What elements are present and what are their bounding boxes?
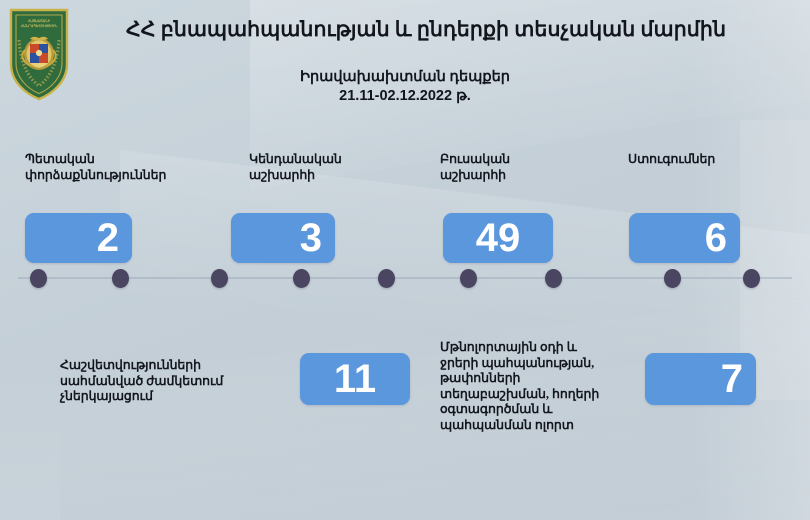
stat-value-fauna: 3 <box>231 218 335 258</box>
divider-dot <box>545 269 562 288</box>
stat-box-flora: 49 <box>443 213 553 263</box>
divider-dot <box>664 269 681 288</box>
dot-divider <box>0 263 810 293</box>
report-period-label: Իրավախախտման դեպքեր <box>0 68 810 87</box>
stat-label-flora: Բուսականաշխարհի <box>440 152 600 183</box>
divider-dot <box>378 269 395 288</box>
stat-box-late-reports: 11 <box>300 353 410 405</box>
stat-value-flora: 49 <box>443 218 553 258</box>
divider-dot <box>112 269 129 288</box>
stat-box-air-water-waste-soil: 7 <box>645 353 756 405</box>
report-period: Իրավախախտման դեպքեր 21.11-02.12.2022 թ. <box>0 68 810 106</box>
header: ՀԱՅԱՍՏԱՆԻ ՀԱՆՐԱՊԵՏՈՒԹՅՈՒՆ <box>0 0 810 125</box>
stat-value-late-reports: 11 <box>300 359 410 399</box>
page-title: ՀՀ բնապահպանության և ընդերքի տեսչական մա… <box>126 17 786 42</box>
stat-value-state-expertise: 2 <box>25 218 132 258</box>
svg-text:ՀԱՅԱՍՏԱՆԻ: ՀԱՅԱՍՏԱՆԻ <box>28 19 51 23</box>
stat-label-late-reports: Հաշվետվություններիսահմանված ժամկետումչնե… <box>60 358 290 405</box>
stat-box-fauna: 3 <box>231 213 335 263</box>
divider-dot <box>460 269 477 288</box>
report-period-dates: 21.11-02.12.2022 թ. <box>0 87 810 106</box>
svg-text:ՀԱՆՐԱՊԵՏՈՒԹՅՈՒՆ: ՀԱՆՐԱՊԵՏՈՒԹՅՈՒՆ <box>21 24 58 28</box>
stat-box-state-expertise: 2 <box>25 213 132 263</box>
divider-dot <box>211 269 228 288</box>
stat-label-inspections: Ստուգումներ <box>628 152 798 168</box>
divider-dot <box>743 269 760 288</box>
divider-dot <box>30 269 47 288</box>
stat-value-inspections: 6 <box>629 218 740 258</box>
divider-dot <box>293 269 310 288</box>
stat-box-inspections: 6 <box>629 213 740 263</box>
stat-label-state-expertise: Պետականփորձաքննություններ <box>25 152 215 183</box>
stat-label-air-water-waste-soil: Մթնոլորտային օդի ևջրերի պահպանության,թափ… <box>440 340 640 433</box>
stat-label-fauna: Կենդանականաշխարհի <box>249 152 409 183</box>
stat-value-air-water-waste-soil: 7 <box>645 359 756 399</box>
infographic-canvas: ՀԱՅԱՍՏԱՆԻ ՀԱՆՐԱՊԵՏՈՒԹՅՈՒՆ <box>0 0 810 520</box>
